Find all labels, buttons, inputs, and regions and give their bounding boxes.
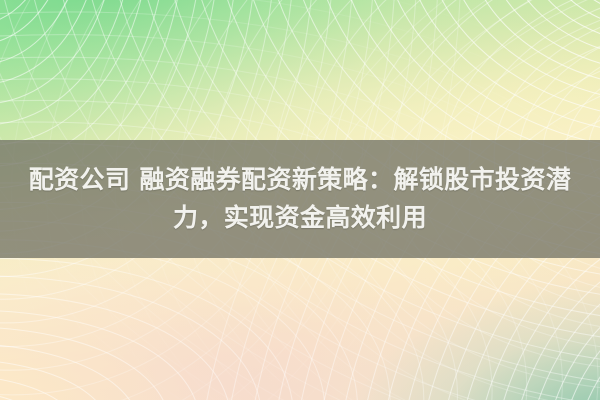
- banner-title: 配资公司 融资融券配资新策略：解锁股市投资潜力，实现资金高效利用: [1, 161, 599, 237]
- title-band: 配资公司 融资融券配资新策略：解锁股市投资潜力，实现资金高效利用: [0, 140, 600, 258]
- banner-canvas: 配资公司 融资融券配资新策略：解锁股市投资潜力，实现资金高效利用: [0, 0, 600, 400]
